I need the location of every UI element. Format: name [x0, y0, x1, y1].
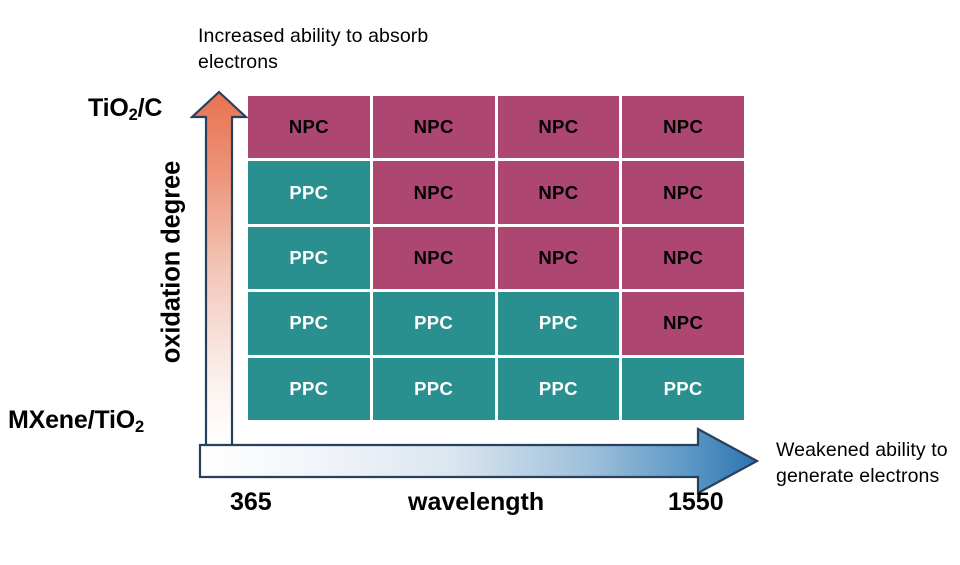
x-axis-title: wavelength — [408, 488, 544, 517]
grid-cell-r2-c2: NPC — [373, 161, 495, 223]
grid-cell-r5-c4: PPC — [622, 358, 744, 420]
grid-cell-r1-c3: NPC — [498, 96, 620, 158]
top-annotation: Increased ability to absorb electrons — [198, 24, 448, 75]
y-axis-top-label-main: TiO — [88, 94, 129, 122]
grid-cell-r4-c4: NPC — [622, 292, 744, 354]
x-axis-end-label: 1550 — [668, 488, 724, 517]
grid-cell-r4-c3: PPC — [498, 292, 620, 354]
y-axis-title: oxidation degree — [158, 161, 187, 363]
grid-cell-r2-c3: NPC — [498, 161, 620, 223]
grid-cell-r5-c1: PPC — [248, 358, 370, 420]
grid-cell-r5-c2: PPC — [373, 358, 495, 420]
grid-cell-r3-c1: PPC — [248, 227, 370, 289]
phase-grid: NPCNPCNPCNPCPPCNPCNPCNPCPPCNPCNPCNPCPPCP… — [248, 96, 744, 420]
grid-cell-r5-c3: PPC — [498, 358, 620, 420]
grid-cell-r4-c1: PPC — [248, 292, 370, 354]
right-annotation: Weakened ability to generate electrons — [776, 437, 954, 489]
grid-cell-r3-c3: NPC — [498, 227, 620, 289]
grid-cell-r1-c2: NPC — [373, 96, 495, 158]
y-axis-bottom-label-subscript: 2 — [135, 418, 144, 436]
grid-cell-r3-c4: NPC — [622, 227, 744, 289]
increasing-wavelength-arrow-icon — [198, 426, 760, 496]
y-axis-bottom-label-main: MXene/TiO — [8, 406, 135, 434]
y-axis-bottom-label: MXene/TiO2 — [8, 406, 144, 435]
y-axis-top-label-subscript: 2 — [129, 106, 138, 124]
y-axis-top-label-tail: /C — [138, 94, 163, 122]
grid-cell-r1-c4: NPC — [622, 96, 744, 158]
grid-cell-r1-c1: NPC — [248, 96, 370, 158]
photoresponse-phase-diagram: Increased ability to absorb electrons Ti… — [0, 0, 960, 565]
x-axis-start-label: 365 — [230, 488, 272, 517]
grid-cell-r2-c4: NPC — [622, 161, 744, 223]
increasing-oxidation-arrow-icon — [190, 90, 248, 448]
grid-cell-r3-c2: NPC — [373, 227, 495, 289]
grid-cell-r2-c1: PPC — [248, 161, 370, 223]
y-axis-top-label: TiO2/C — [88, 94, 162, 123]
grid-cell-r4-c2: PPC — [373, 292, 495, 354]
